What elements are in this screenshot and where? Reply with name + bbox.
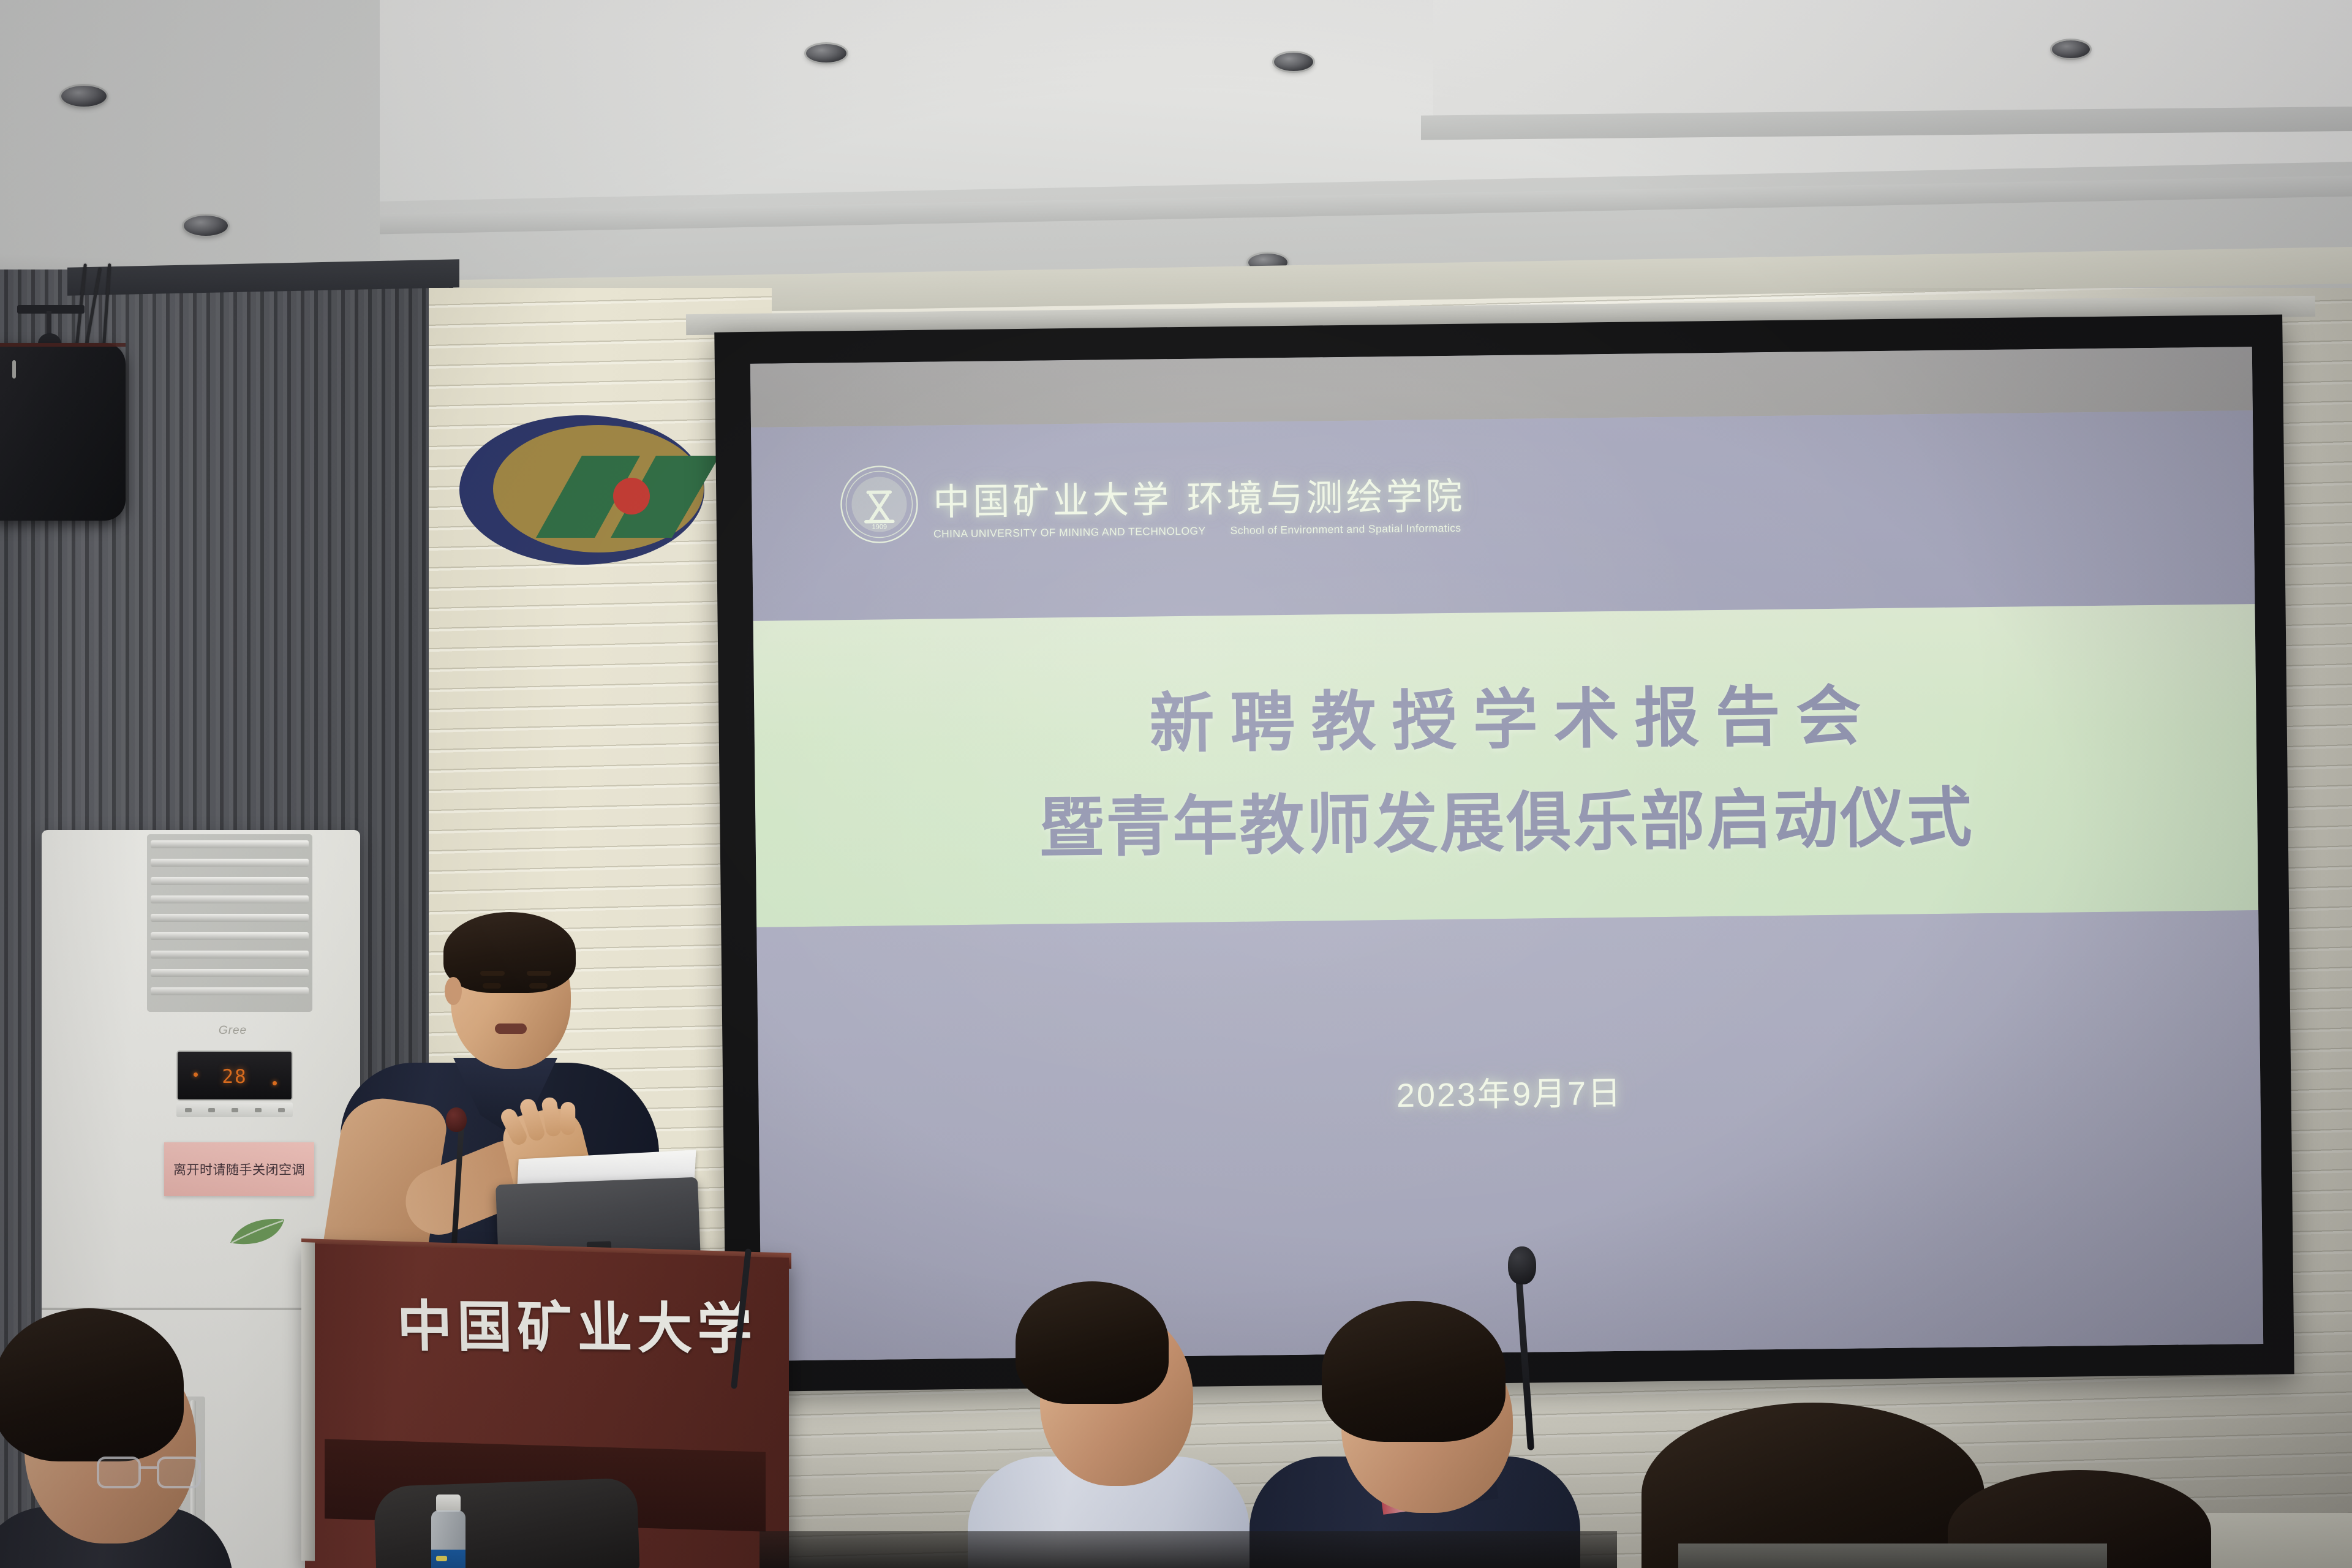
- front-table-right: [1678, 1543, 2107, 1568]
- bottle-cap: [436, 1494, 461, 1512]
- ac-brand-label: Gree: [184, 1024, 282, 1038]
- seal-year: 1909: [872, 523, 888, 530]
- presenter-eyebrow: [527, 971, 551, 976]
- ac-button[interactable]: [255, 1108, 262, 1112]
- ac-display-panel: 28: [176, 1050, 293, 1101]
- ac-button[interactable]: [278, 1108, 285, 1112]
- slide-title-group: 新聘教授学术报告会 暨青年教师发展俱乐部启动仪式: [753, 604, 2259, 927]
- water-bottle: [429, 1494, 468, 1568]
- university-name-cn: 中国矿业大学: [933, 478, 1172, 524]
- wall-speaker: [0, 343, 126, 521]
- ac-top-grille: [147, 834, 312, 1012]
- ceiling-downlight-icon: [184, 216, 228, 236]
- audience-member-white-shirt: [968, 1273, 1249, 1568]
- ac-temperature-value: 28: [222, 1066, 247, 1088]
- lecture-hall-photo: 1909 中国矿业大学环境与测绘学院 CHINA UNIVERSITY OF M…: [0, 0, 2352, 1568]
- projection-screen-surface: 1909 中国矿业大学环境与测绘学院 CHINA UNIVERSITY OF M…: [750, 347, 2263, 1361]
- presenter-eye: [529, 983, 548, 989]
- ceiling-downlight-icon: [1274, 53, 1313, 71]
- school-name-en: School of Environment and Spatial Inform…: [1230, 522, 1461, 537]
- logo-chinese-line: 中国矿业大学环境与测绘学院: [933, 478, 1466, 521]
- ac-button-row[interactable]: [176, 1102, 293, 1117]
- university-logo-lockup: 1909 中国矿业大学环境与测绘学院 CHINA UNIVERSITY OF M…: [839, 458, 1466, 546]
- front-table-dark: [759, 1531, 1617, 1568]
- audience-hair: [1322, 1301, 1506, 1442]
- projection-screen-frame: 1909 中国矿业大学环境与测绘学院 CHINA UNIVERSITY OF M…: [714, 315, 2294, 1392]
- podium-left-edge: [301, 1242, 315, 1561]
- ac-button[interactable]: [185, 1108, 192, 1112]
- ac-button[interactable]: [232, 1108, 238, 1112]
- logo-text-block: 中国矿业大学环境与测绘学院 CHINA UNIVERSITY OF MINING…: [933, 478, 1466, 544]
- wall-emblem: [456, 410, 720, 570]
- slide-title-line-2: 暨青年教师发展俱乐部启动仪式: [1039, 764, 1975, 869]
- ceiling-soffit-recess: [1433, 0, 2352, 122]
- university-seal-icon: 1909: [839, 464, 920, 545]
- presenter-eye: [483, 983, 501, 989]
- presenter-ear: [445, 977, 462, 1005]
- presenter-hair: [443, 912, 576, 993]
- ac-leaf-decal-icon: [227, 1216, 288, 1248]
- ceiling-downlight-icon: [806, 44, 846, 62]
- audience-hair: [0, 1308, 184, 1461]
- audience-hair: [1016, 1281, 1169, 1404]
- presentation-slide: 1909 中国矿业大学环境与测绘学院 CHINA UNIVERSITY OF M…: [750, 347, 2263, 1361]
- audience-member-with-glasses: [0, 1305, 239, 1568]
- eyeglasses-icon: [97, 1457, 201, 1490]
- ceiling-downlight-icon: [61, 86, 107, 107]
- presenter-eyebrow: [480, 971, 505, 976]
- ac-notice-text: 离开时请随手关闭空调: [173, 1160, 305, 1178]
- ceiling-downlight-icon: [2052, 40, 2090, 58]
- school-name-cn: 环境与测绘学院: [1186, 475, 1466, 521]
- table-microphone-head: [1508, 1246, 1536, 1284]
- audience-member-navy-polo: [1249, 1305, 1580, 1568]
- university-name-en: CHINA UNIVERSITY OF MINING AND TECHNOLOG…: [933, 524, 1206, 540]
- ac-notice-sign: 离开时请随手关闭空调: [164, 1142, 314, 1196]
- podium-nameplate-text: 中国矿业大学: [396, 1281, 741, 1364]
- shoulder-bag: [374, 1478, 640, 1568]
- podium-microphone-head: [446, 1107, 467, 1132]
- bottle-label: [431, 1550, 466, 1568]
- slide-title-line-1: 新聘教授学术报告会: [1133, 663, 1878, 766]
- ac-button[interactable]: [208, 1108, 215, 1112]
- speaker-mount-bracket: [17, 305, 85, 348]
- presenter-mouth: [495, 1023, 527, 1034]
- logo-english-line: CHINA UNIVERSITY OF MINING AND TECHNOLOG…: [933, 522, 1466, 541]
